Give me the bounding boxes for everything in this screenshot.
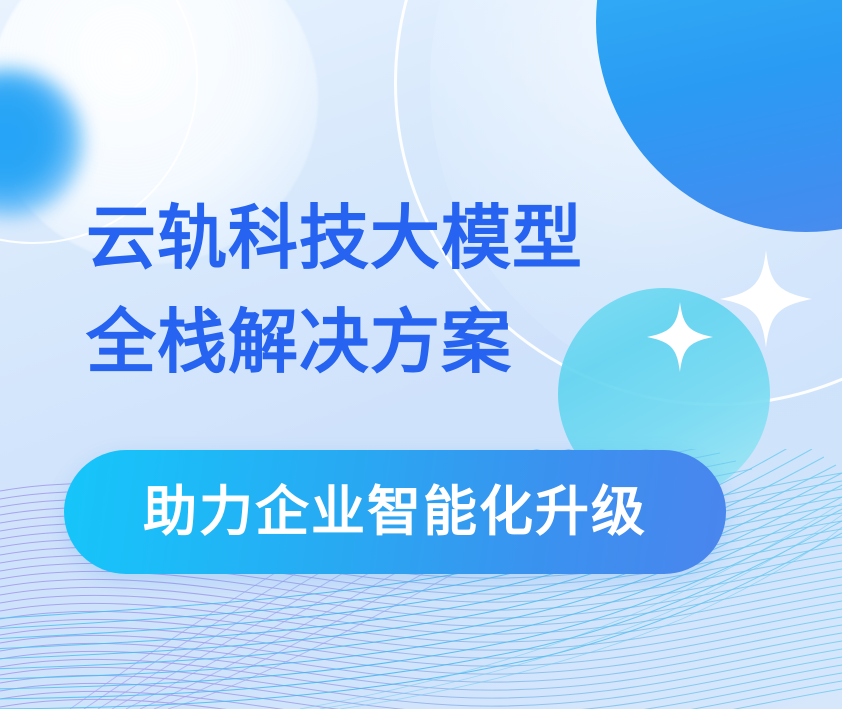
banner-content: 云轨科技大模型 全栈解决方案 助力企业智能化升级 (0, 0, 842, 709)
cta-button-label: 助力企业智能化升级 (143, 485, 647, 539)
headline-block: 云轨科技大模型 全栈解决方案 (86, 186, 686, 394)
promo-banner: 云轨科技大模型 全栈解决方案 助力企业智能化升级 (0, 0, 842, 709)
headline-line-1: 云轨科技大模型 (86, 186, 686, 290)
headline-line-2: 全栈解决方案 (86, 290, 686, 394)
cta-button[interactable]: 助力企业智能化升级 (64, 450, 726, 574)
